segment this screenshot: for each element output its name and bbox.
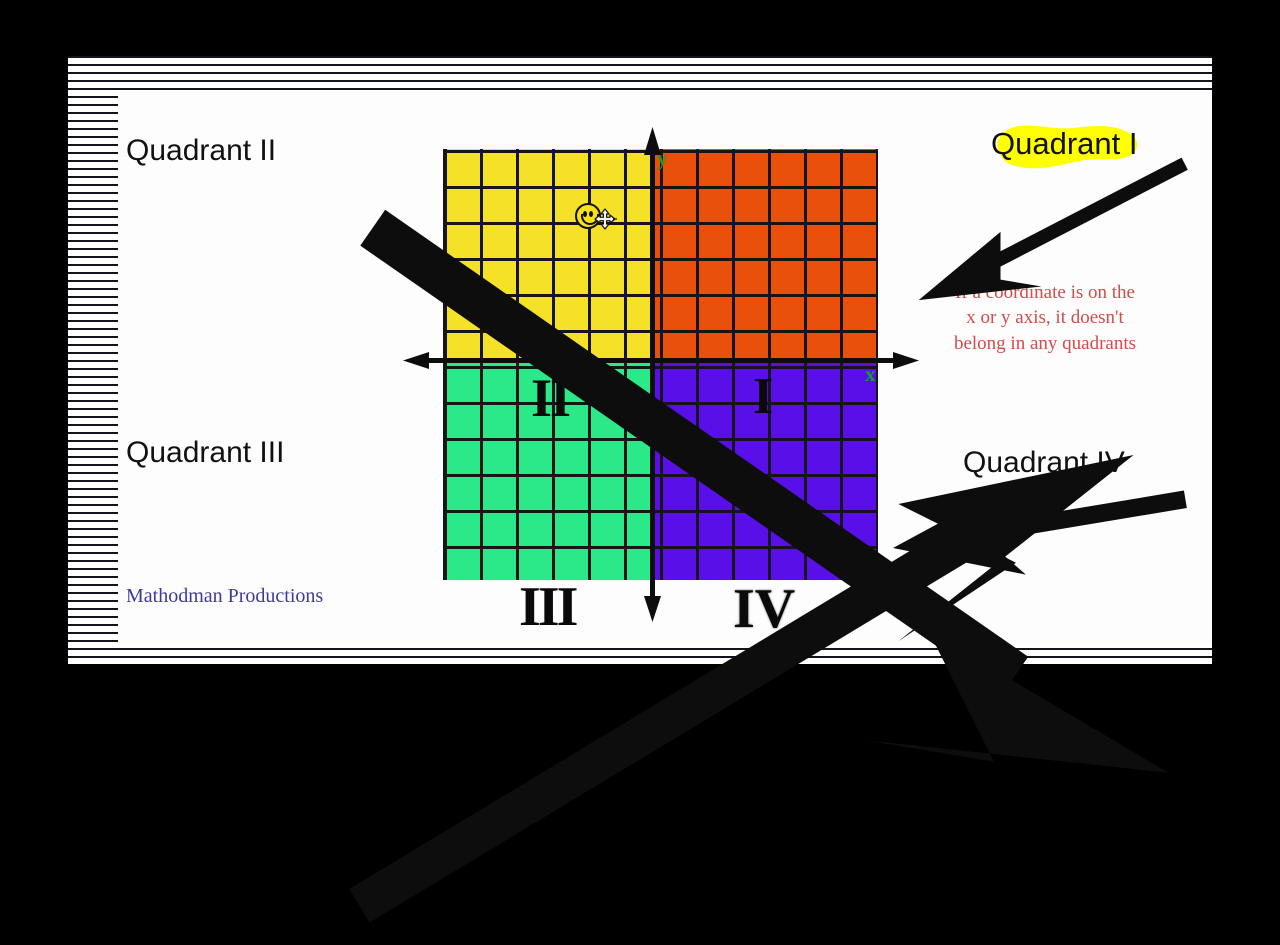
quadrant-2-label: Quadrant II [126,134,276,168]
quadrant-1-arrow [905,150,1212,321]
quadrant-3-label: Quadrant III [126,436,284,470]
quadrant-1-label: Quadrant I [991,126,1137,162]
whiteboard-canvas[interactable]: II I III IV y x Quadrant II Quadrant III… [118,92,1212,645]
y-axis-label: y [657,146,668,171]
quadrant-4-arrow [893,455,1212,597]
credit-watermark: Mathodman Productions [126,585,323,608]
screen: II I III IV y x Quadrant II Quadrant III… [0,0,1280,720]
